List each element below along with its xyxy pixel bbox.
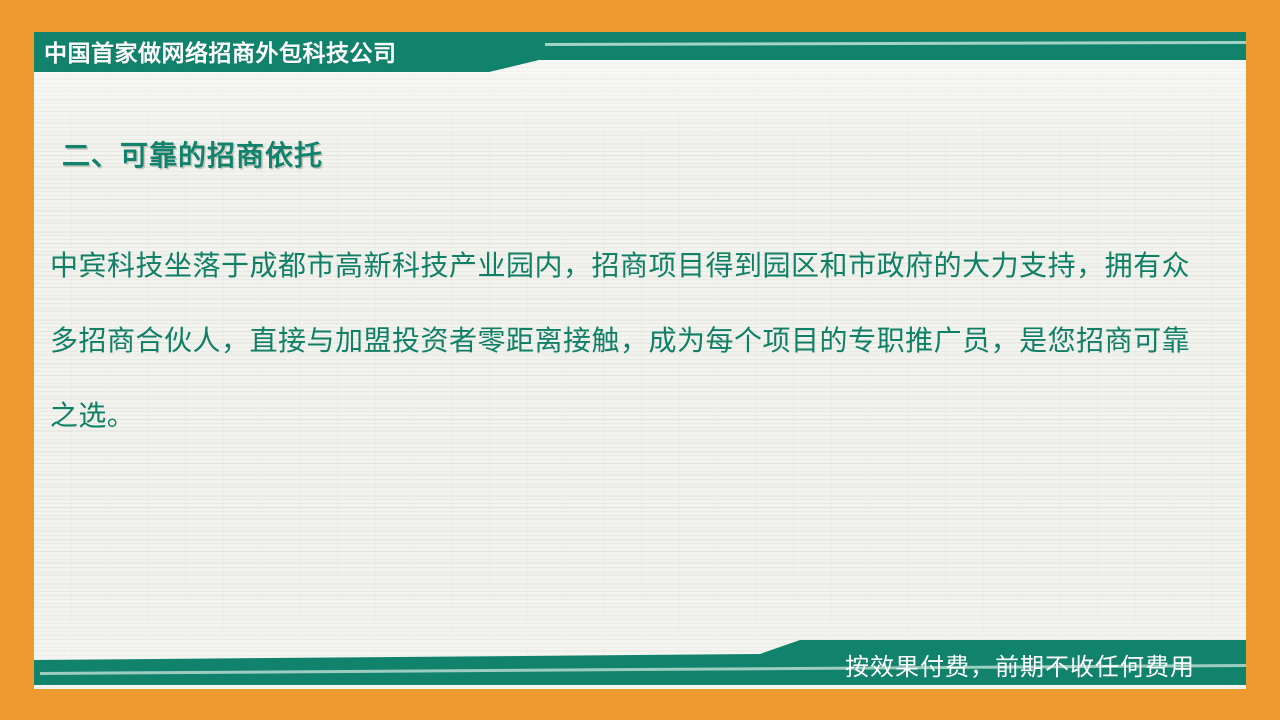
slide-root: 中国首家做网络招商外包科技公司 二、可靠的招商依托 中宾科技坐落于成都市高新科技… [0,0,1280,720]
page-title: 二、可靠的招商依托 [62,134,323,174]
footer-slogan-wrap: 按效果付费，前期不收任何费用 [845,645,1245,683]
body-paragraph: 中宾科技坐落于成都市高新科技产业园内，招商项目得到园区和市政府的大力支持，拥有众… [50,228,1190,453]
header-banner-text: 中国首家做网络招商外包科技公司 [44,32,484,69]
body-paragraph-block: 中宾科技坐落于成都市高新科技产业园内，招商项目得到园区和市政府的大力支持，拥有众… [50,228,1190,453]
header-banner-label: 中国首家做网络招商外包科技公司 [44,34,397,68]
footer-slogan: 按效果付费，前期不收任何费用 [845,647,1195,682]
